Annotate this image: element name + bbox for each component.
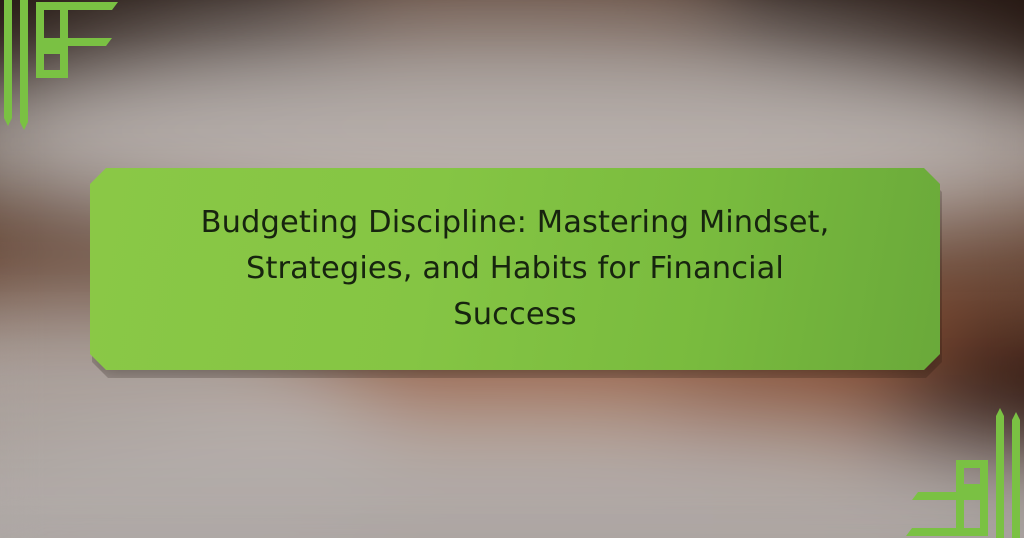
page-root: Budgeting Discipline: Mastering Mindset,…	[0, 0, 1024, 538]
title-card: Budgeting Discipline: Mastering Mindset,…	[90, 168, 940, 370]
page-title: Budgeting Discipline: Mastering Mindset,…	[137, 200, 893, 338]
